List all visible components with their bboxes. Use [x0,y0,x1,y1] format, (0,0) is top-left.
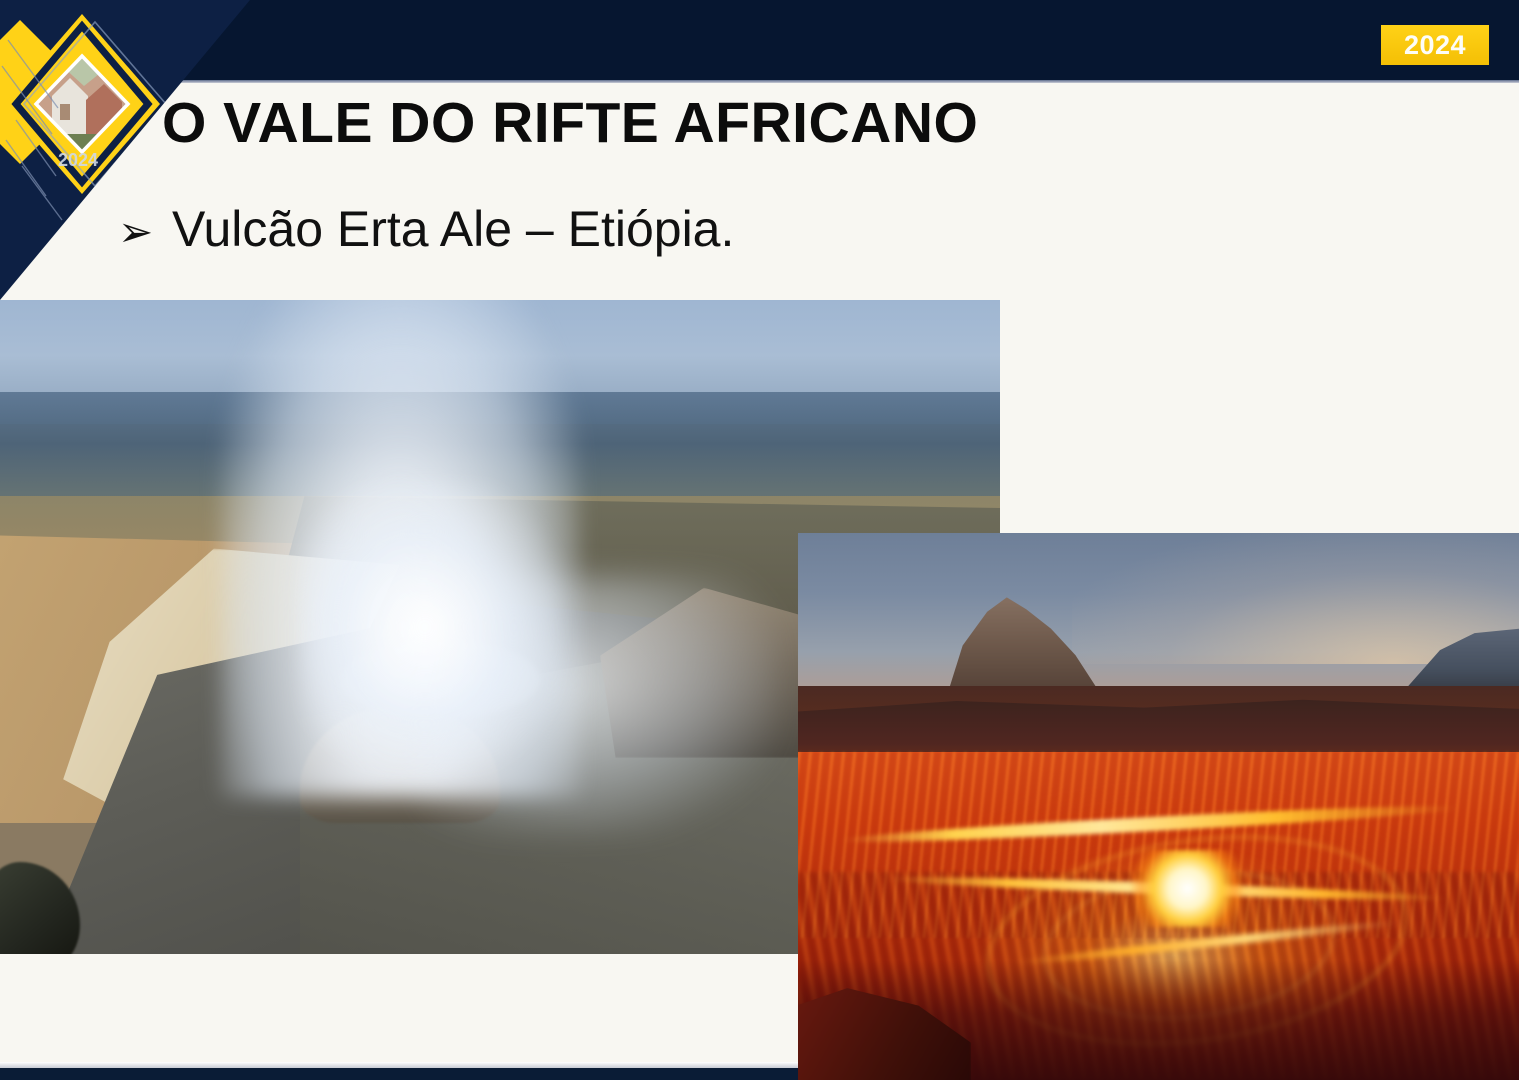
lower-left-background-panel [0,954,798,1064]
logo-year-label: 2024 [58,150,98,170]
lava-hotspot [1130,850,1245,927]
erta-ale-lava-lake-image [798,533,1519,1080]
helicopter-foreground [0,862,80,954]
logo-graphic: 2024 [0,0,330,320]
presentation-slide: 2024 [0,0,1519,1080]
year-badge-label: 2024 [1404,30,1466,61]
event-logo: 2024 [0,0,330,320]
crater-steam-core [300,483,560,771]
year-badge: 2024 [1381,25,1489,65]
